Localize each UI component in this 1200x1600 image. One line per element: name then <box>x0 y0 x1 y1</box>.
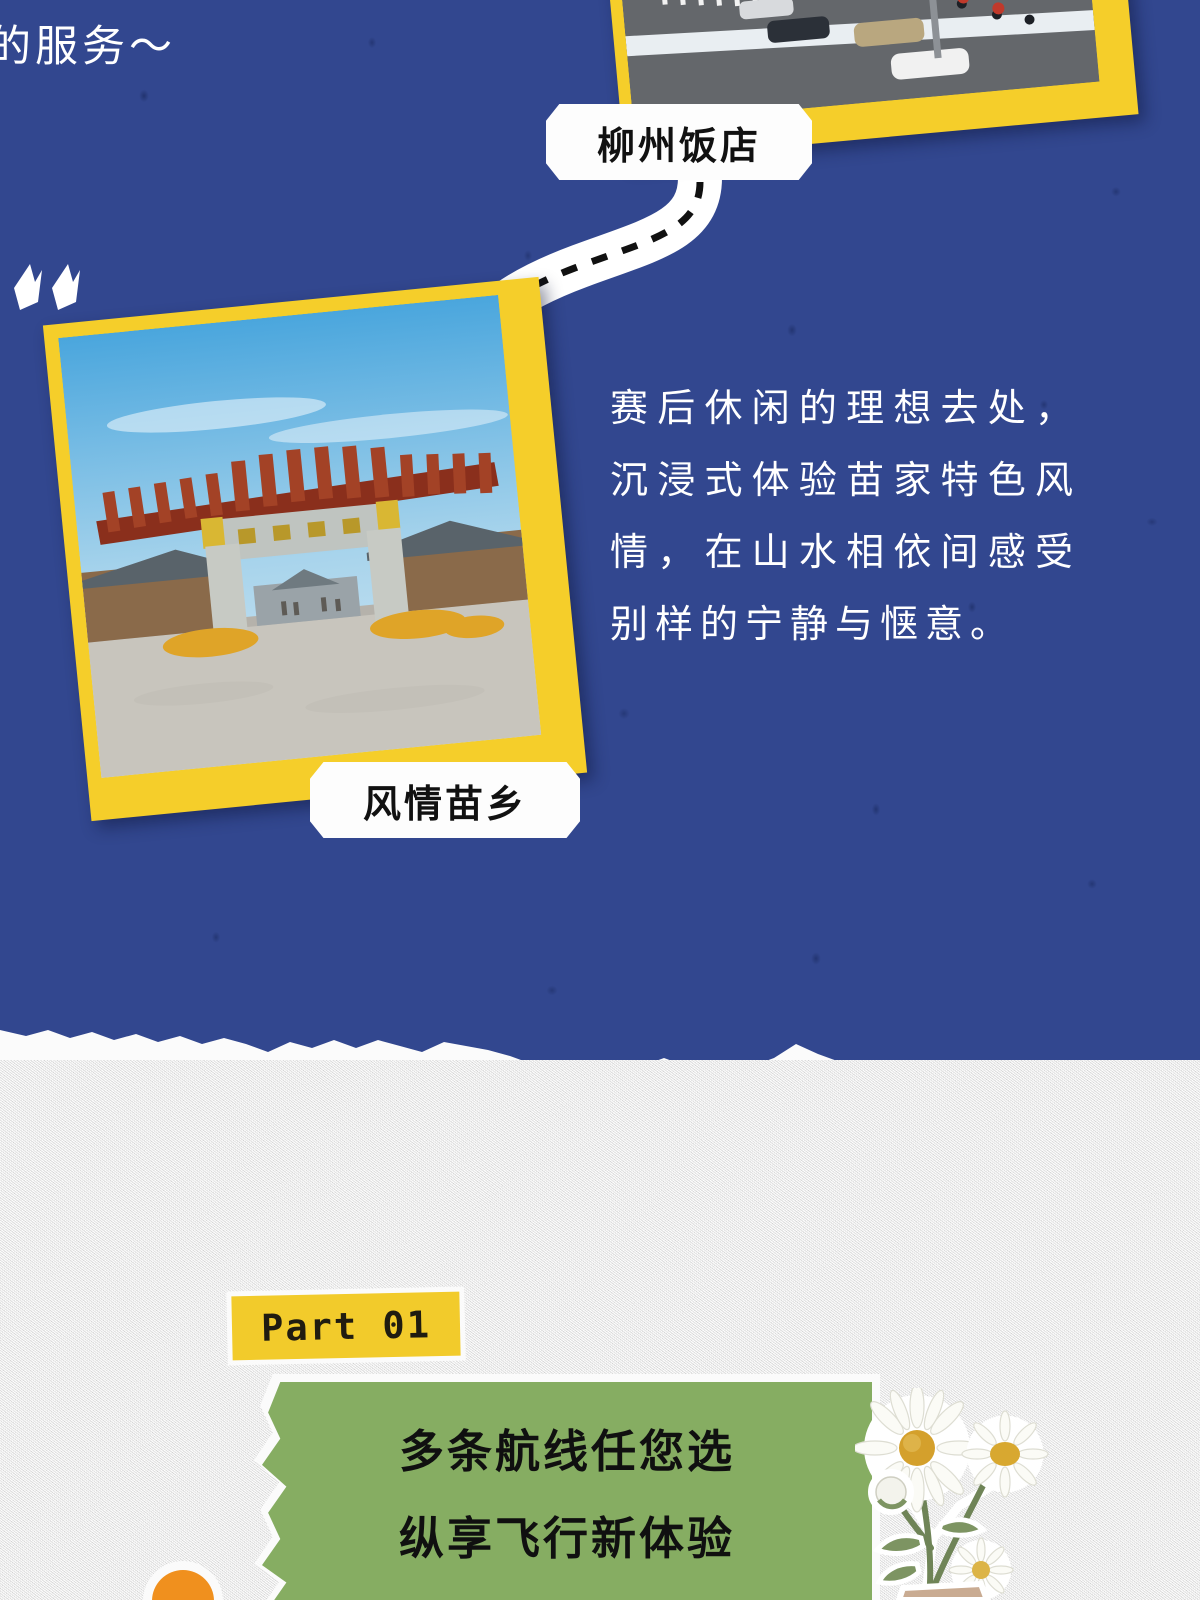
top-headline-text: 的服务～ <box>0 12 176 74</box>
part-badge: Part 01 <box>231 1292 460 1361</box>
photo-gate-image <box>58 292 572 806</box>
photo-miao-village-gate[interactable] <box>43 277 587 821</box>
poster-root: 的服务～ <box>0 0 1200 1600</box>
quote-marks-icon <box>8 258 88 318</box>
green-banner-line2: 纵享飞行新体验 <box>399 1502 735 1567</box>
caption-tag-miaoxiang: 风情苗乡 <box>310 762 580 838</box>
daisy-flowers-icon <box>855 1388 1050 1600</box>
caption-tag-liuzhou: 柳州饭店 <box>546 104 812 180</box>
blue-section: 的服务～ <box>0 0 1200 1065</box>
green-banner-line1: 多条航线任您选 <box>399 1415 735 1480</box>
description-paragraph: 赛后休闲的理想去处，沉浸式体验苗家特色风情，在山水相依间感受别样的宁静与惬意。 <box>610 372 1080 660</box>
green-banner-text: 多条航线任您选 纵享飞行新体验 <box>262 1382 872 1600</box>
